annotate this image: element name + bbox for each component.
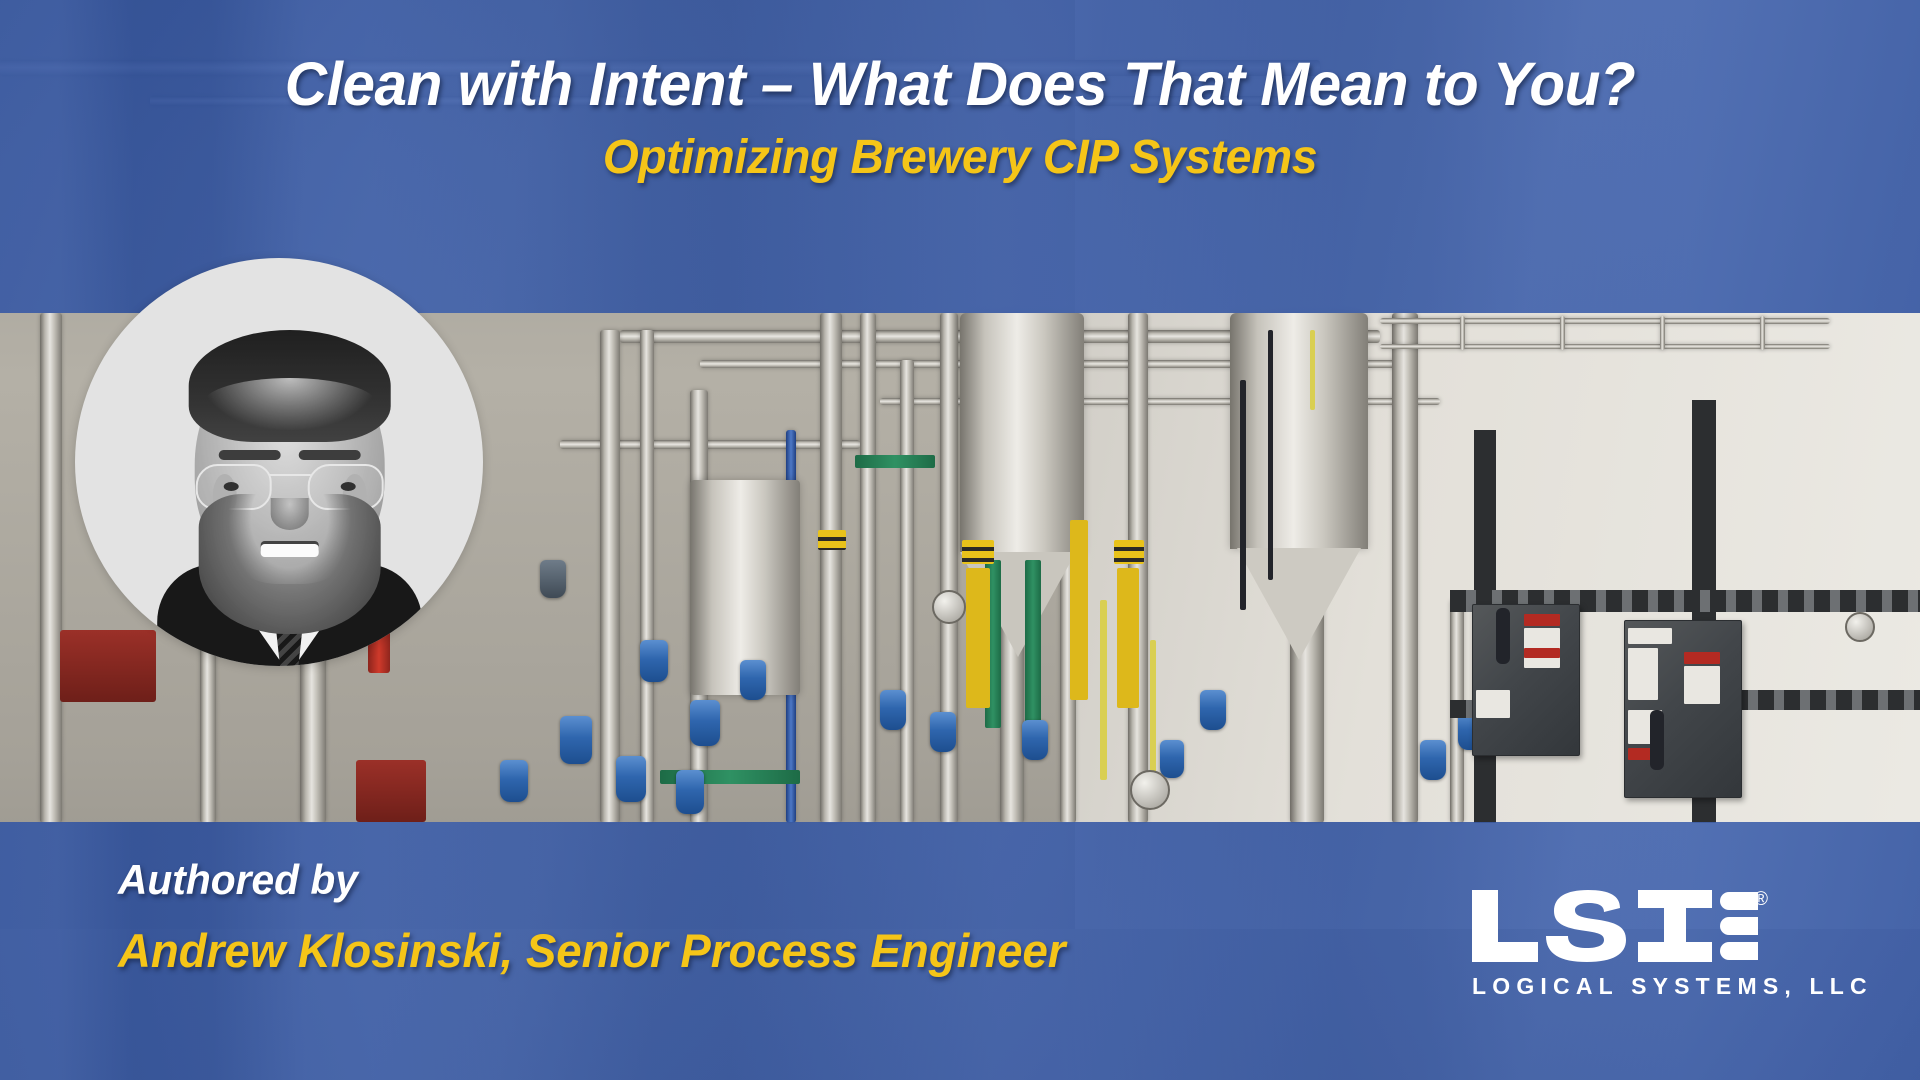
lsi-logo-glyphs: [1468, 888, 1758, 964]
electrical-disconnect-panel: [1472, 604, 1580, 756]
electrical-disconnect-panel: [1624, 620, 1742, 798]
avatar: [75, 258, 483, 666]
valve-actuator: [500, 760, 528, 802]
hazard-stripe: [1114, 540, 1144, 564]
process-tank: [1230, 313, 1368, 549]
pipe-marker-wort-b4: [966, 568, 990, 708]
vertical-pipe: [900, 360, 914, 823]
disconnect-handle: [1496, 608, 1510, 664]
lsi-logo: ® LOGICAL SYSTEMS, LLC: [1468, 888, 1778, 1014]
valve-actuator: [740, 660, 766, 700]
pipe-marker-yellow: [1070, 520, 1088, 700]
cable-yellow: [1150, 640, 1156, 790]
hazard-stripe: [962, 540, 994, 564]
vertical-pipe: [600, 330, 620, 823]
vertical-pipe: [40, 313, 62, 823]
hazard-stripe: [818, 530, 846, 550]
vertical-pipe: [1392, 313, 1418, 823]
instruction-label: [1628, 648, 1658, 700]
instruction-label: [1628, 628, 1672, 644]
railing-post: [1560, 316, 1565, 350]
registered-trademark-icon: ®: [1754, 890, 1768, 909]
vertical-pipe: [640, 330, 654, 823]
valve-actuator: [1160, 740, 1184, 778]
lsi-logo-wordmark: LOGICAL SYSTEMS, LLC: [1468, 964, 1778, 1000]
railing-post: [1460, 316, 1465, 350]
disconnect-handle: [1650, 710, 1664, 770]
pipe-marker-wort-b3: [1117, 568, 1139, 708]
pressure-gauge: [1845, 612, 1875, 642]
eye-right: [340, 482, 355, 491]
pressure-gauge: [932, 590, 966, 624]
cable-dark: [1268, 330, 1273, 580]
instruction-label: [1476, 690, 1510, 718]
cable-yellow: [1100, 600, 1107, 780]
cable-dark: [1240, 380, 1246, 610]
author-block: Authored by Andrew Klosinski, Senior Pro…: [118, 856, 1095, 978]
lsi-logo-mark: ®: [1468, 888, 1758, 964]
valve-actuator: [930, 712, 956, 752]
warning-label: [1524, 648, 1560, 658]
instruction-label: [1684, 666, 1720, 704]
warning-label: [1684, 652, 1720, 664]
vertical-pipe: [820, 313, 842, 823]
beard: [198, 494, 380, 634]
red-equipment: [356, 760, 426, 822]
page-subtitle: Optimizing Brewery CIP Systems: [38, 118, 1881, 185]
valve-actuator: [1200, 690, 1226, 730]
glasses-bridge: [268, 474, 310, 476]
pressure-gauge: [1130, 770, 1170, 810]
portrait-illustration: [162, 314, 417, 666]
valve-actuator: [880, 690, 906, 730]
presentation-title-slide: Clean with Intent – What Does That Mean …: [0, 0, 1920, 1080]
warning-label: [1524, 614, 1560, 626]
mouth: [260, 544, 318, 557]
authored-by-label: Authored by: [118, 856, 1066, 903]
red-equipment: [60, 630, 156, 702]
valve-actuator: [676, 770, 704, 814]
valve-actuator: [690, 700, 720, 746]
pipe-marker-green: [1025, 560, 1041, 728]
cable-yellow: [1310, 330, 1315, 410]
railing-post: [1760, 316, 1765, 350]
process-tank: [960, 313, 1084, 553]
eyebrow-left: [218, 450, 280, 460]
valve-actuator: [560, 716, 592, 764]
valve-actuator: [640, 640, 668, 682]
railing-post: [1660, 316, 1665, 350]
page-title: Clean with Intent – What Does That Mean …: [38, 0, 1881, 118]
eye-left: [223, 482, 238, 491]
instrument-head: [540, 560, 566, 598]
eyebrow-right: [298, 450, 360, 460]
valve-actuator: [1022, 720, 1048, 760]
author-name: Andrew Klosinski, Senior Process Enginee…: [118, 903, 1066, 978]
pipe-marker-green: [855, 455, 935, 468]
vertical-pipe: [860, 313, 876, 823]
valve-actuator: [1420, 740, 1446, 780]
hair: [188, 330, 390, 442]
tank-cone: [1237, 548, 1361, 660]
valve-actuator: [616, 756, 646, 802]
